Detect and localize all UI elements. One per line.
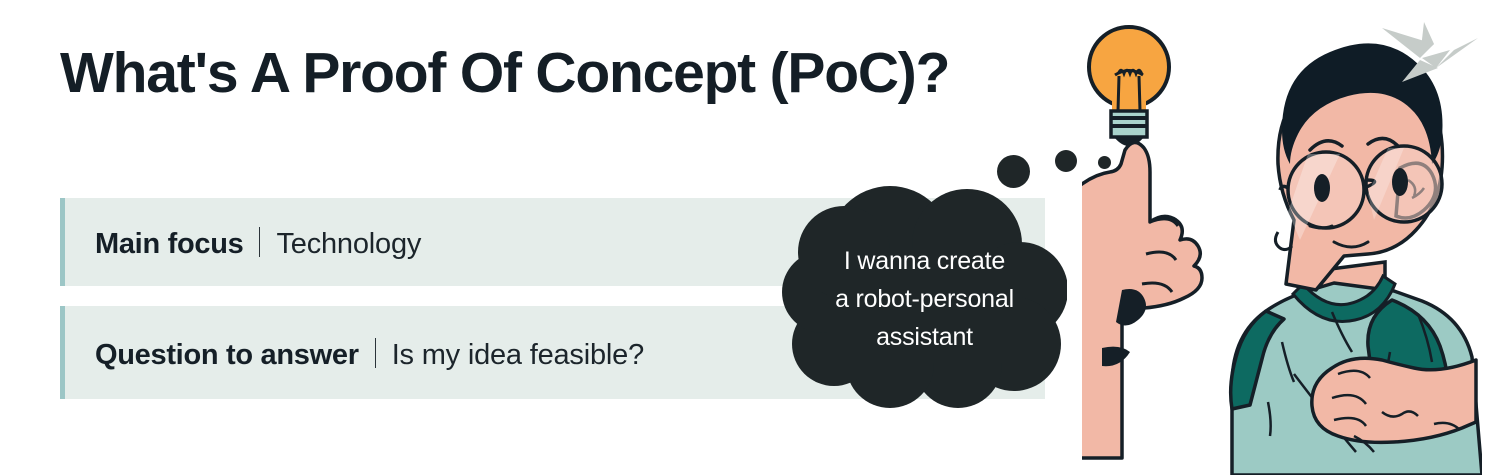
row-label: Question to answer — [95, 339, 359, 372]
row-value: Technology — [276, 228, 421, 261]
row-accent-bar — [60, 198, 65, 286]
thought-bubble-shape-icon — [782, 186, 1067, 408]
thought-dot-medium-icon — [1055, 150, 1077, 172]
row-separator-icon — [375, 338, 376, 368]
row-label: Main focus — [95, 228, 243, 261]
row-content: Question to answer Is my idea feasible? — [95, 334, 644, 372]
pointing-hand-icon — [1082, 142, 1202, 458]
thought-dot-large-icon — [997, 155, 1030, 188]
row-accent-bar — [60, 306, 65, 399]
row-value: Is my idea feasible? — [392, 339, 644, 372]
thought-bubble: I wanna create a robot-personal assistan… — [782, 186, 1067, 408]
page-title: What's A Proof Of Concept (PoC)? — [60, 38, 949, 108]
infographic-canvas: What's A Proof Of Concept (PoC)? Main fo… — [0, 0, 1500, 475]
row-content: Main focus Technology — [95, 223, 421, 261]
lightbulb-icon — [1089, 27, 1169, 146]
origami-bird-logo-icon — [1376, 14, 1484, 86]
row-separator-icon — [259, 227, 260, 257]
